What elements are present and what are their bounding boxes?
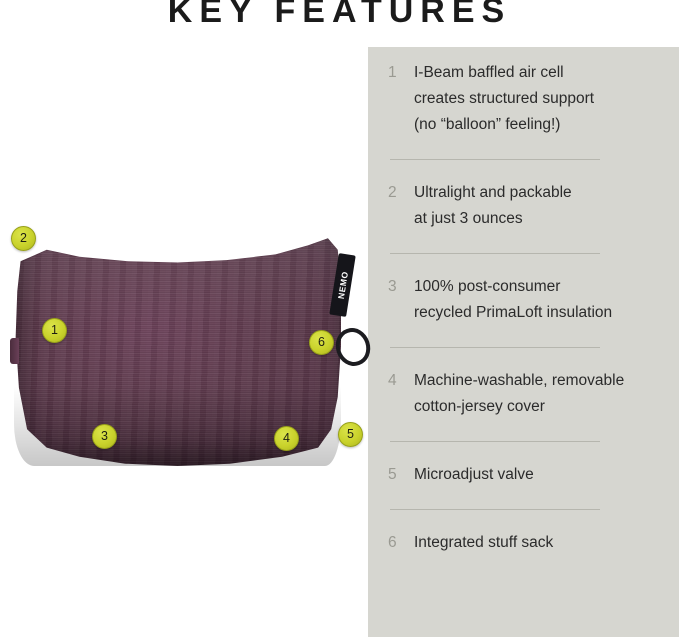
feature-text-4: Machine-washable, removable cotton-jerse… xyxy=(414,368,668,420)
feature-number-1: 1 xyxy=(388,60,397,86)
feature-number-3: 3 xyxy=(388,274,397,300)
callout-badge-5[interactable]: 5 xyxy=(338,422,363,447)
callout-badge-6[interactable]: 6 xyxy=(309,330,334,355)
feature-divider xyxy=(390,347,600,348)
page-title: KEY FEATURES xyxy=(0,0,679,31)
feature-line: creates structured support xyxy=(414,86,668,112)
feature-item-2: 2 Ultralight and packable at just 3 ounc… xyxy=(388,180,668,232)
callout-badge-2[interactable]: 2 xyxy=(11,226,36,251)
product-illustration: NEMO 1 2 3 4 5 6 xyxy=(0,210,380,490)
key-features-infographic: KEY FEATURES NEMO 1 2 3 4 5 6 1 I-Beam b… xyxy=(0,0,679,637)
callout-badge-3[interactable]: 3 xyxy=(92,424,117,449)
feature-text-1: I-Beam baffled air cell creates structur… xyxy=(414,60,668,138)
feature-line: Microadjust valve xyxy=(414,462,668,488)
feature-number-5: 5 xyxy=(388,462,397,488)
brand-tag-label: NEMO xyxy=(335,270,349,299)
feature-line: Integrated stuff sack xyxy=(414,530,668,556)
feature-number-4: 4 xyxy=(388,368,397,394)
callout-badge-1[interactable]: 1 xyxy=(42,318,67,343)
feature-line: (no “balloon” feeling!) xyxy=(414,112,668,138)
feature-number-2: 2 xyxy=(388,180,397,206)
feature-text-2: Ultralight and packable at just 3 ounces xyxy=(414,180,668,232)
feature-text-5: Microadjust valve xyxy=(414,462,668,488)
feature-item-5: 5 Microadjust valve xyxy=(388,462,668,488)
feature-item-6: 6 Integrated stuff sack xyxy=(388,530,668,556)
feature-divider xyxy=(390,509,600,510)
feature-list: 1 I-Beam baffled air cell creates struct… xyxy=(388,60,668,556)
feature-text-6: Integrated stuff sack xyxy=(414,530,668,556)
feature-line: recycled PrimaLoft insulation xyxy=(414,300,668,326)
microadjust-valve-icon xyxy=(10,338,19,364)
feature-item-4: 4 Machine-washable, removable cotton-jer… xyxy=(388,368,668,420)
feature-text-3: 100% post-consumer recycled PrimaLoft in… xyxy=(414,274,668,326)
feature-line: at just 3 ounces xyxy=(414,206,668,232)
feature-line: Machine-washable, removable xyxy=(414,368,668,394)
feature-item-1: 1 I-Beam baffled air cell creates struct… xyxy=(388,60,668,138)
callout-badge-4[interactable]: 4 xyxy=(274,426,299,451)
feature-divider xyxy=(390,253,600,254)
feature-line: Ultralight and packable xyxy=(414,180,668,206)
feature-divider xyxy=(390,441,600,442)
feature-line: cotton-jersey cover xyxy=(414,394,668,420)
feature-item-3: 3 100% post-consumer recycled PrimaLoft … xyxy=(388,274,668,326)
feature-line: I-Beam baffled air cell xyxy=(414,60,668,86)
feature-divider xyxy=(390,159,600,160)
feature-number-6: 6 xyxy=(388,530,397,556)
feature-line: 100% post-consumer xyxy=(414,274,668,300)
